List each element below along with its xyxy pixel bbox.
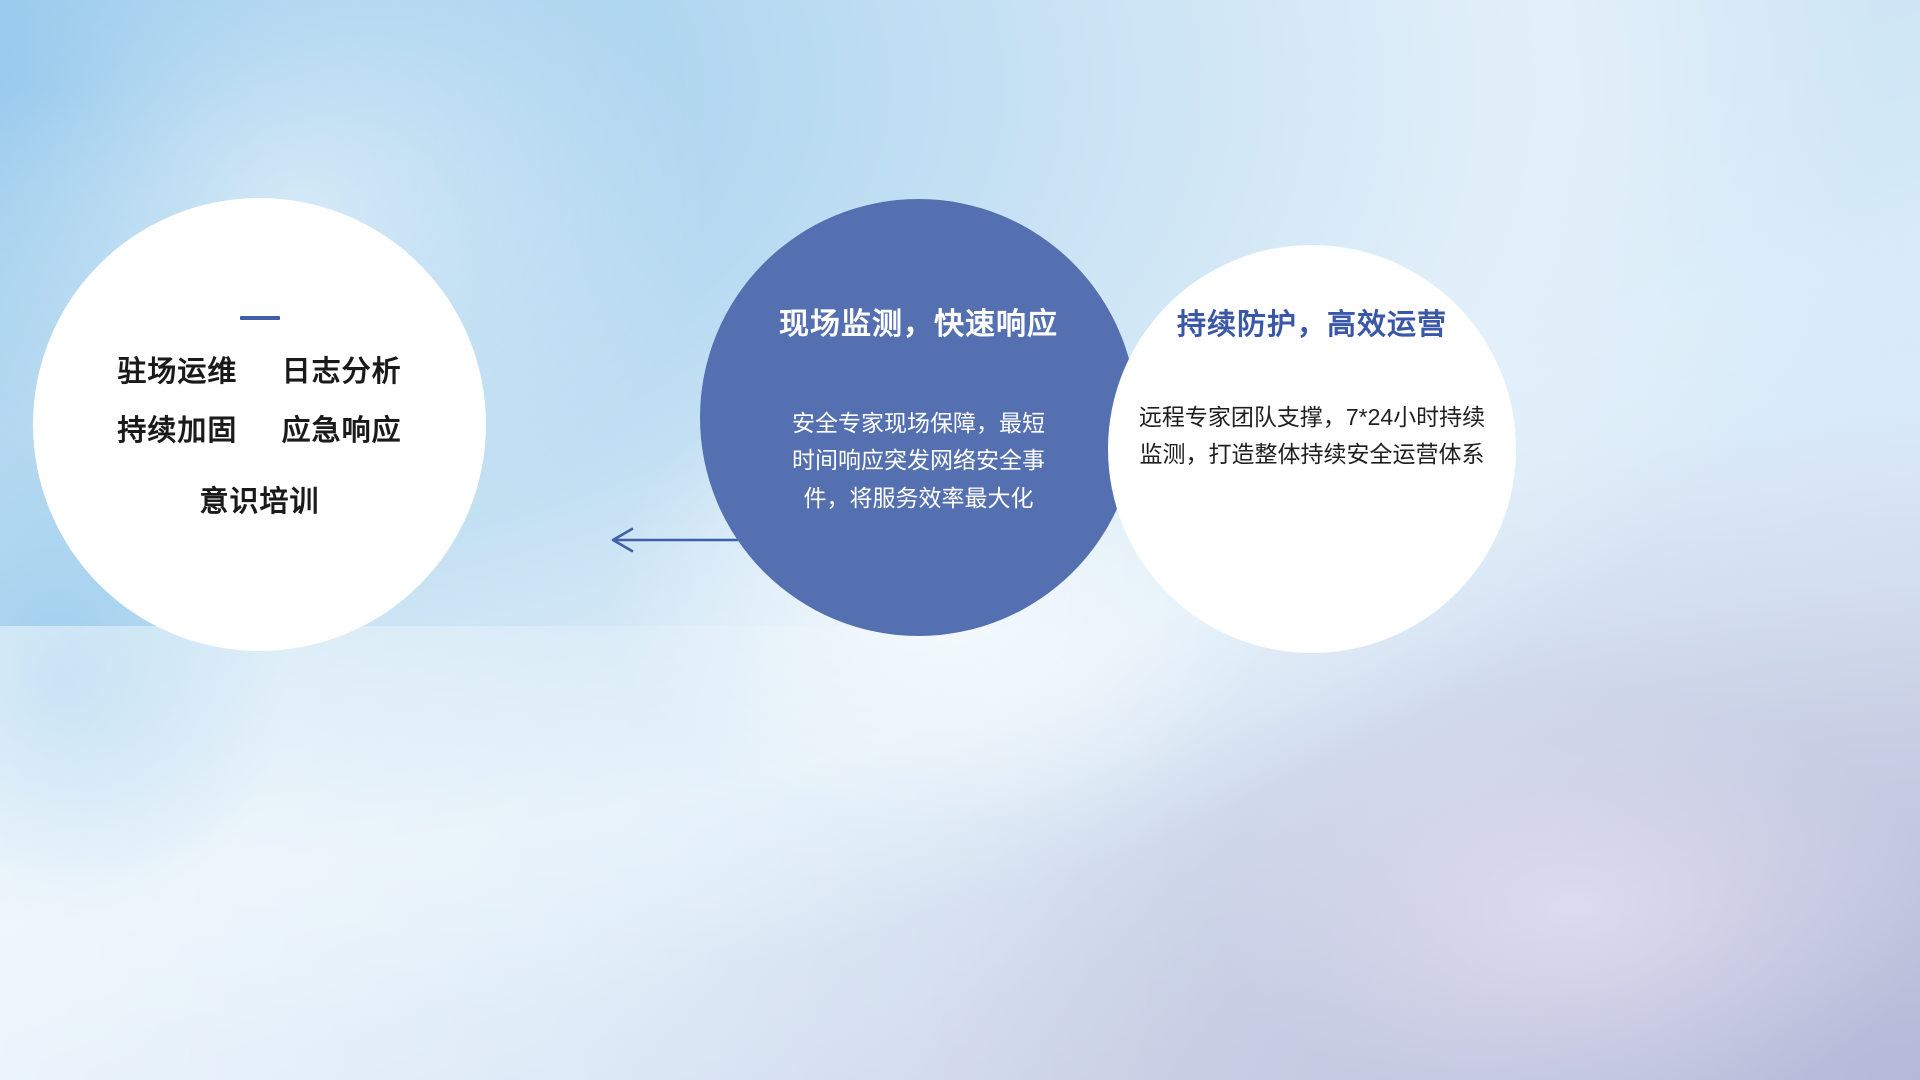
capability-row-3: 意识培训 xyxy=(33,488,486,517)
capability-circle-left: 驻场运维 日志分析 持续加固 应急响应 意识培训 xyxy=(33,198,486,651)
capability-row-2: 持续加固 应急响应 xyxy=(33,417,486,446)
right-circle-body: 远程专家团队支撑，7*24小时持续监测，打造整体持续安全运营体系 xyxy=(1136,399,1488,474)
right-circle-title: 持续防护，高效运营 xyxy=(1177,301,1447,343)
capability-tag-continuous-hardening: 持续加固 xyxy=(117,415,237,447)
feature-circle-middle: 现场监测，快速响应 安全专家现场保障，最短时间响应突发网络安全事件，将服务效率最… xyxy=(700,199,1137,636)
background-sheen xyxy=(0,626,1651,1080)
capability-tag-log-analysis: 日志分析 xyxy=(282,356,402,388)
middle-circle-title: 现场监测，快速响应 xyxy=(779,299,1058,343)
divider-dash xyxy=(240,316,280,320)
capability-tag-awareness-training: 意识培训 xyxy=(199,486,319,518)
capability-tag-onsite-ops: 驻场运维 xyxy=(117,356,237,388)
middle-circle-body: 安全专家现场保障，最短时间响应突发网络安全事件，将服务效率最大化 xyxy=(784,405,1054,517)
capability-list: 驻场运维 日志分析 持续加固 应急响应 意识培训 xyxy=(33,358,486,517)
feature-circle-right: 持续防护，高效运营 远程专家团队支撑，7*24小时持续监测，打造整体持续安全运营… xyxy=(1108,245,1516,653)
capability-row-1: 驻场运维 日志分析 xyxy=(33,358,486,387)
capability-tag-emergency-response: 应急响应 xyxy=(282,415,402,447)
